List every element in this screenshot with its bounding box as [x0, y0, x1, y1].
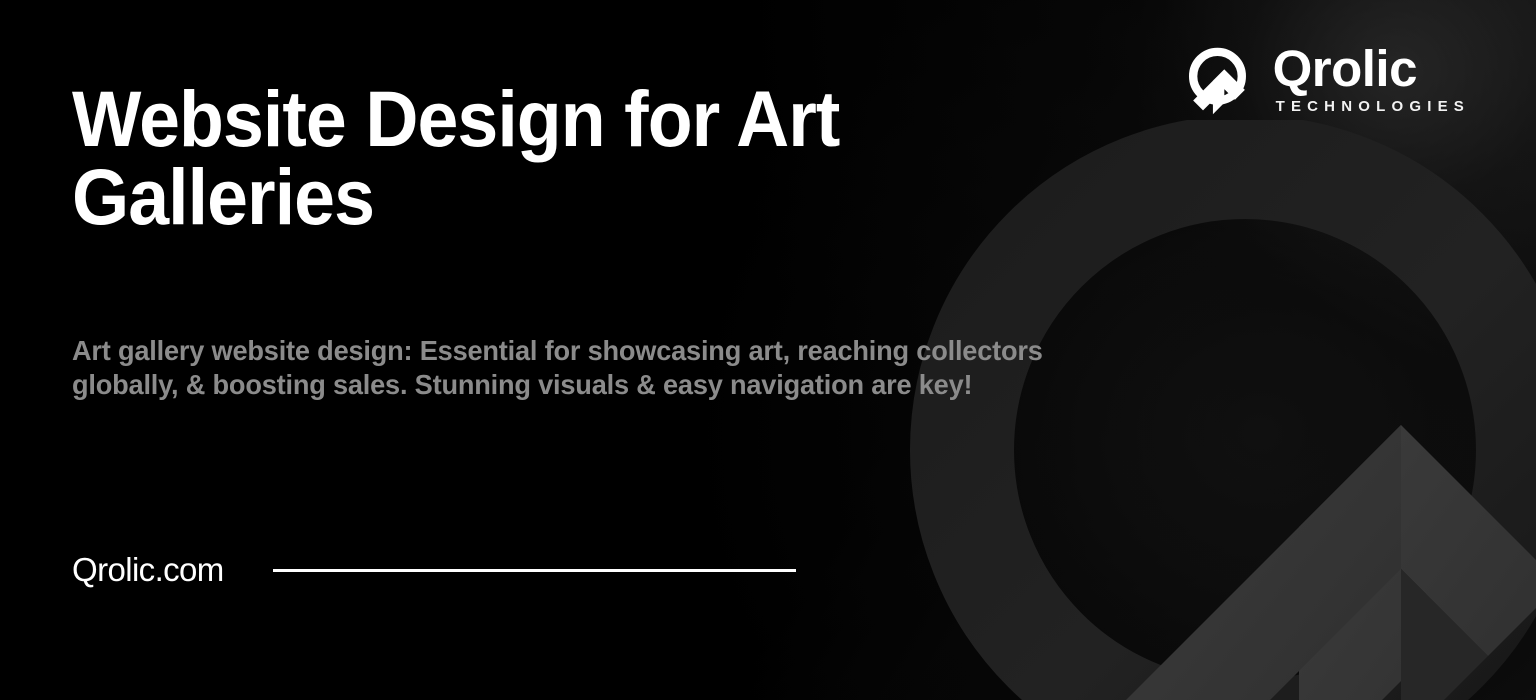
page-subtitle: Art gallery website design: Essential fo… — [72, 334, 1081, 402]
footer-website-url[interactable]: Qrolic.com — [72, 550, 224, 590]
footer-divider-rule — [273, 569, 796, 572]
content-column: Website Design for Art Galleries Art gal… — [72, 0, 1132, 700]
logo-wordmark: Qrolic — [1273, 45, 1417, 93]
footer-row: Qrolic.com — [72, 550, 832, 590]
logo-text-block: Qrolic TECHNOLOGIES — [1273, 45, 1470, 116]
page-title: Website Design for Art Galleries — [72, 80, 909, 236]
promo-banner: Qrolic TECHNOLOGIES Website Design for A… — [0, 0, 1536, 700]
qrolic-circle-arrow-icon — [1181, 42, 1257, 118]
brand-logo[interactable]: Qrolic TECHNOLOGIES — [1181, 42, 1470, 118]
logo-tagline: TECHNOLOGIES — [1276, 98, 1470, 115]
